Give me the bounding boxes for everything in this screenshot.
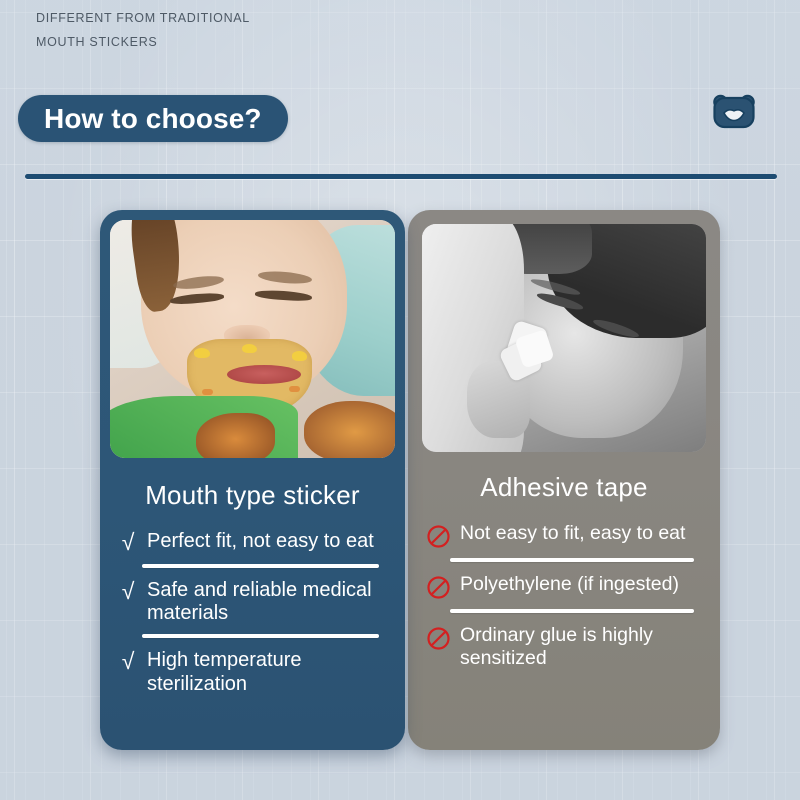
prohibition-icon [426, 575, 451, 600]
card-title-adhesive-tape: Adhesive tape [408, 452, 720, 503]
feature-text: High temperature sterilization [147, 648, 391, 695]
feature-text: Perfect fit, not easy to eat [147, 529, 374, 553]
comparison-card-adhesive-tape: Adhesive tape Not easy to fit, easy to e… [408, 210, 720, 750]
feature-separator [142, 564, 379, 568]
feature-item: √ Perfect fit, not easy to eat [114, 529, 391, 555]
card-title-mouth-type-sticker: Mouth type sticker [100, 458, 405, 511]
check-radical-icon: √ [118, 531, 138, 555]
card-photo-mouth-type-sticker [110, 220, 395, 458]
feature-list-adhesive-tape: Not easy to fit, easy to eat Polyethylen… [408, 503, 720, 669]
feature-item: Not easy to fit, easy to eat [422, 521, 706, 549]
feature-list-mouth-type-sticker: √ Perfect fit, not easy to eat √ Safe an… [100, 511, 405, 696]
check-radical-icon: √ [118, 650, 138, 674]
prohibition-icon [426, 524, 451, 549]
page-title: How to choose? [44, 103, 262, 135]
eyebrow-line-1: DIFFERENT FROM TRADITIONAL [36, 6, 250, 30]
card-photo-adhesive-tape [422, 224, 706, 452]
bear-face-icon [710, 92, 758, 132]
feature-separator [450, 609, 694, 613]
feature-text: Ordinary glue is highly sensitized [460, 623, 706, 669]
feature-item: Polyethylene (if ingested) [422, 572, 706, 600]
feature-item: Ordinary glue is highly sensitized [422, 623, 706, 669]
prohibition-icon [426, 626, 451, 651]
feature-text: Not easy to fit, easy to eat [460, 521, 685, 545]
feature-item: √ Safe and reliable medical materials [114, 578, 391, 625]
eyebrow-text: DIFFERENT FROM TRADITIONAL MOUTH STICKER… [36, 6, 250, 55]
feature-item: √ High temperature sterilization [114, 648, 391, 695]
header-divider [25, 174, 777, 179]
feature-separator [450, 558, 694, 562]
comparison-card-mouth-type-sticker: Mouth type sticker √ Perfect fit, not ea… [100, 210, 405, 750]
page-title-pill: How to choose? [18, 95, 288, 142]
feature-separator [142, 634, 379, 638]
feature-text: Polyethylene (if ingested) [460, 572, 679, 596]
feature-text: Safe and reliable medical materials [147, 578, 391, 625]
check-radical-icon: √ [118, 580, 138, 604]
eyebrow-line-2: MOUTH STICKERS [36, 30, 250, 54]
